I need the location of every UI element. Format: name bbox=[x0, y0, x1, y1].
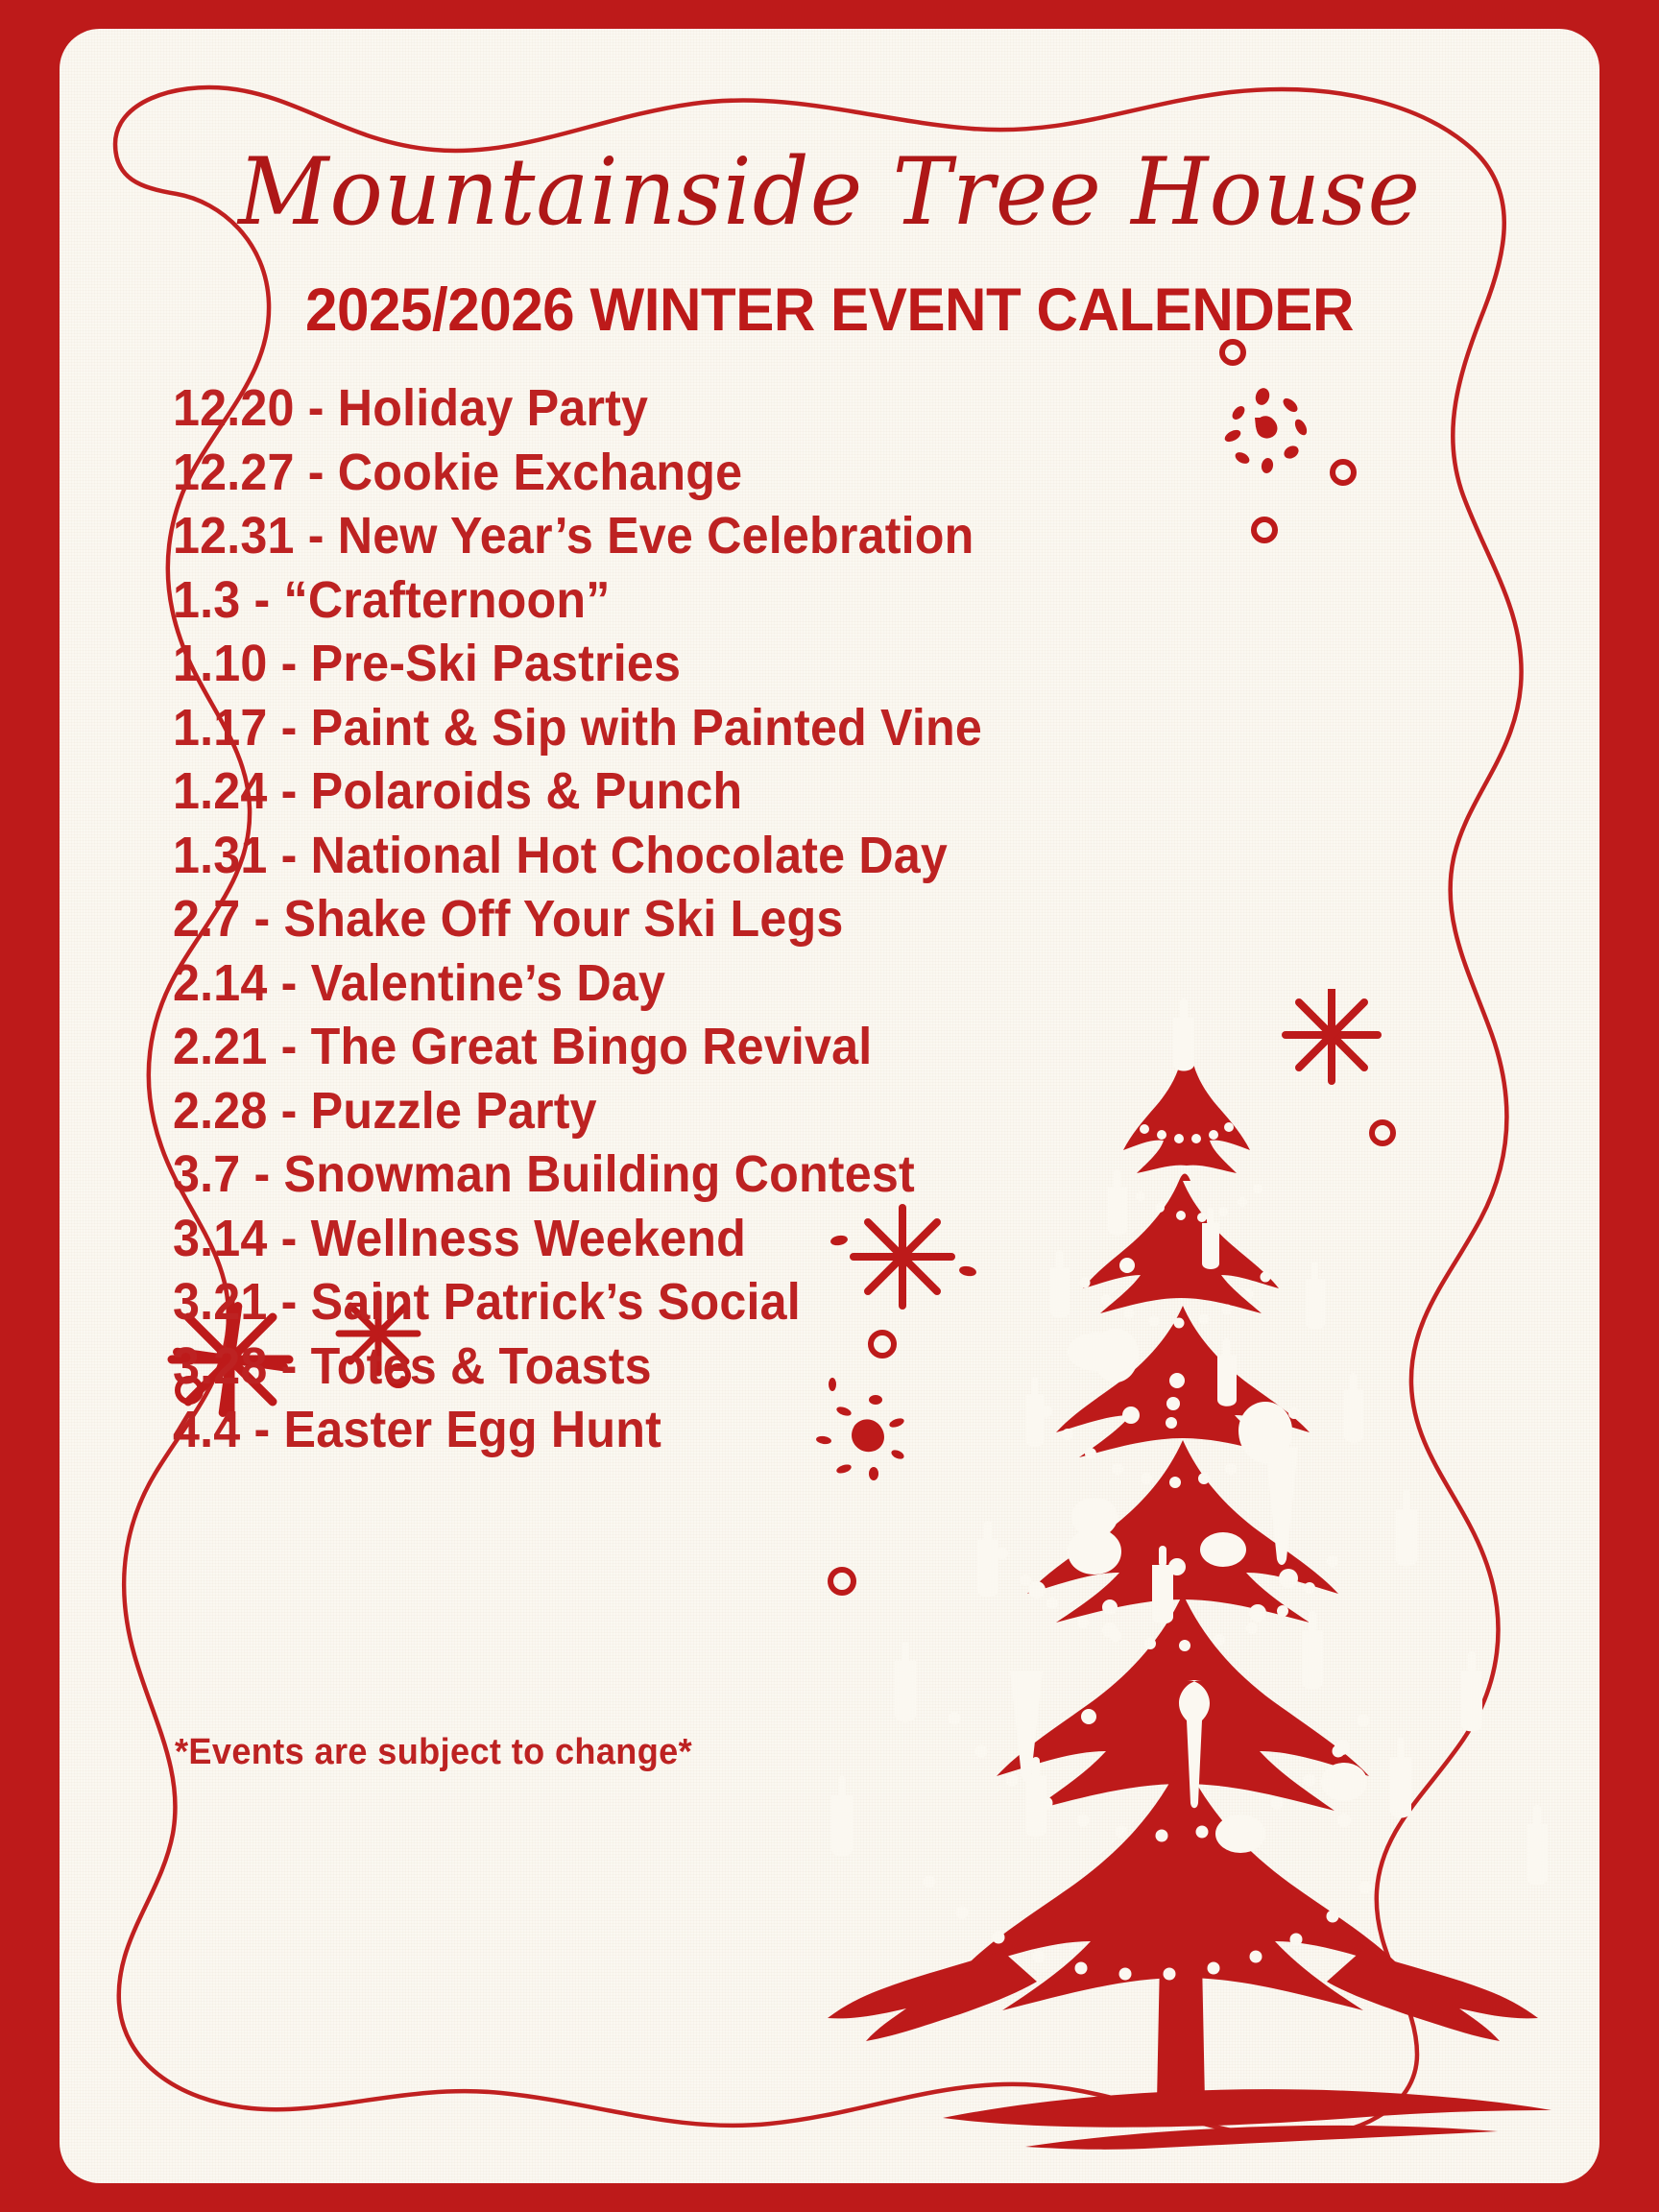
list-item: 1.17 - Paint & Sip with Painted Vine bbox=[173, 696, 1334, 760]
poster: Mountainside Tree House 2025/2026 WINTER… bbox=[0, 0, 1659, 2212]
event-list: 12.20 - Holiday Party 12.27 - Cookie Exc… bbox=[173, 376, 1421, 1462]
list-item: 12.27 - Cookie Exchange bbox=[173, 441, 1334, 505]
page-subtitle: 2025/2026 WINTER EVENT CALENDER bbox=[94, 280, 1565, 341]
list-item: 3.21 - Saint Patrick’s Social bbox=[173, 1270, 1334, 1334]
list-item: 1.3 - “Crafternoon” bbox=[173, 568, 1334, 633]
list-item: 12.20 - Holiday Party bbox=[173, 376, 1334, 441]
list-item: 4.4 - Easter Egg Hunt bbox=[173, 1398, 1334, 1462]
poster-panel: Mountainside Tree House 2025/2026 WINTER… bbox=[60, 29, 1599, 2183]
list-item: 3.28 - Totes & Toasts bbox=[173, 1334, 1334, 1399]
list-item: 2.21 - The Great Bingo Revival bbox=[173, 1015, 1334, 1079]
footnote-disclaimer: *Events are subject to change* bbox=[175, 1734, 692, 1770]
list-item: 1.31 - National Hot Chocolate Day bbox=[173, 824, 1334, 888]
list-item: 2.14 - Valentine’s Day bbox=[173, 951, 1334, 1016]
list-item: 12.31 - New Year’s Eve Celebration bbox=[173, 504, 1334, 568]
circle-top-right-1 bbox=[1222, 342, 1243, 363]
list-item: 3.7 - Snowman Building Contest bbox=[173, 1142, 1334, 1207]
page-title: Mountainside Tree House bbox=[90, 146, 1569, 238]
list-item: 1.24 - Polaroids & Punch bbox=[173, 759, 1334, 824]
list-item: 2.7 - Shake Off Your Ski Legs bbox=[173, 887, 1334, 951]
list-item: 1.10 - Pre-Ski Pastries bbox=[173, 632, 1334, 696]
list-item: 3.14 - Wellness Weekend bbox=[173, 1207, 1334, 1271]
circle-tree-3 bbox=[830, 1570, 854, 1593]
list-item: 2.28 - Puzzle Party bbox=[173, 1079, 1334, 1143]
